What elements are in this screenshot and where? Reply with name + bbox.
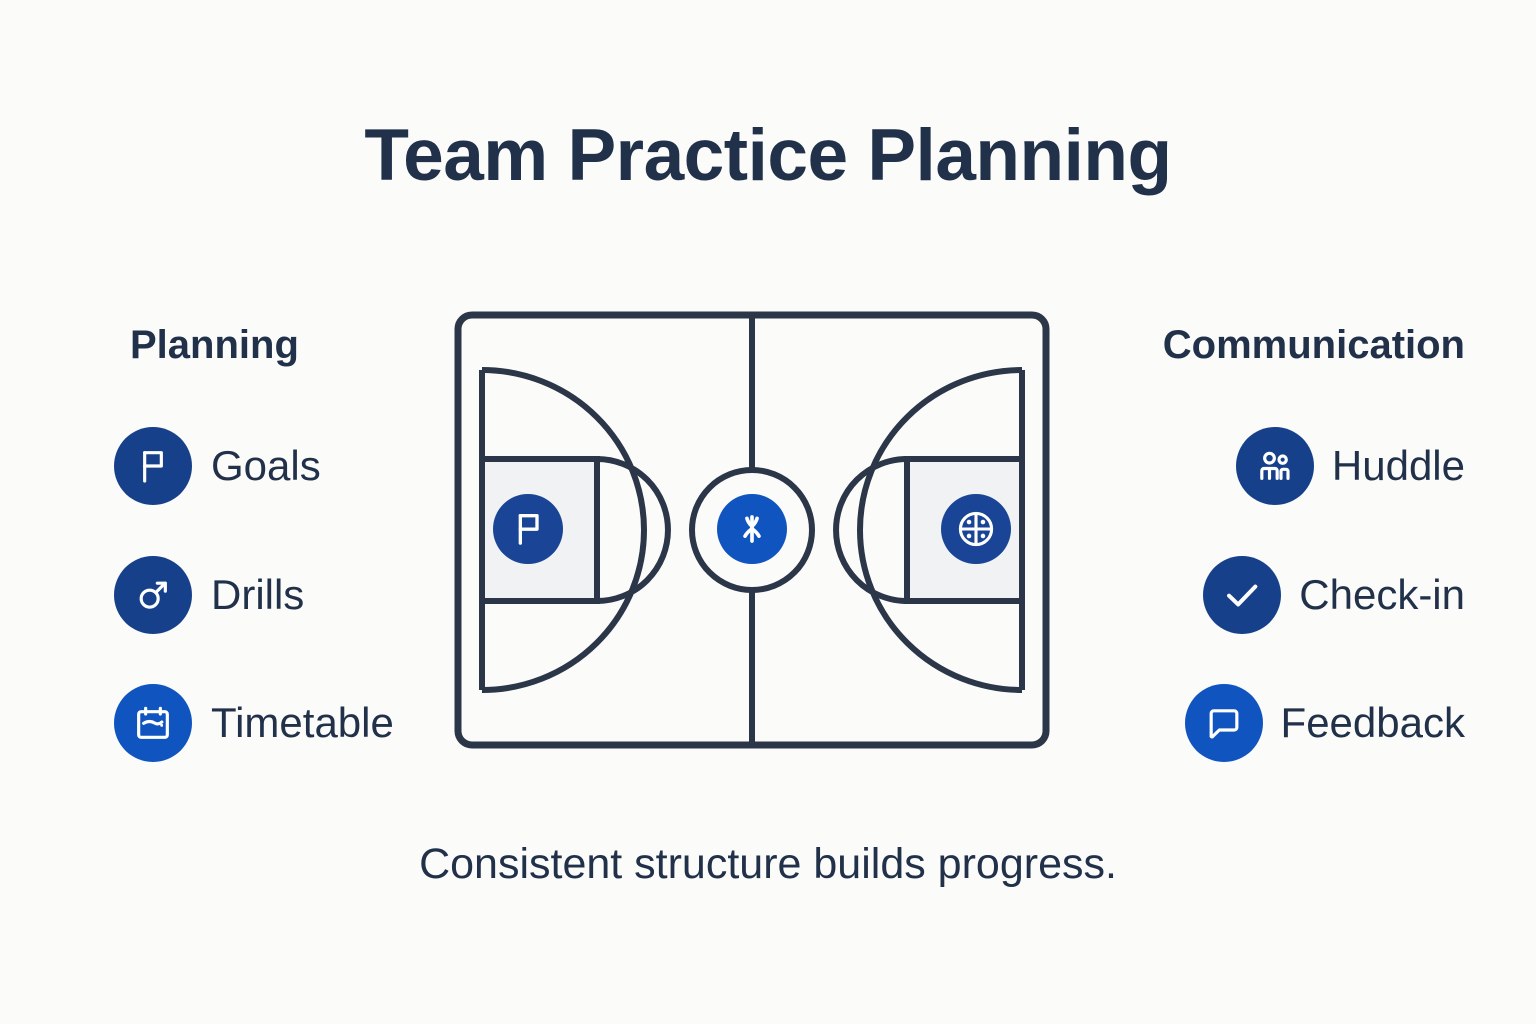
list-item-label-huddle: Huddle (1332, 445, 1465, 487)
infographic-canvas: Team Practice Planning Planning Goals (0, 0, 1536, 1024)
caption: Consistent structure builds progress. (0, 843, 1536, 886)
speech-bubble-icon (1204, 703, 1244, 743)
people-group-icon (1255, 446, 1295, 486)
column-heading-communication: Communication (1163, 325, 1465, 365)
list-item-timetable[interactable]: Timetable (114, 684, 394, 762)
badge-check-in (1203, 556, 1281, 634)
badge-goals (114, 427, 192, 505)
sparkle-stem-icon (733, 510, 771, 548)
list-item-goals[interactable]: Goals (114, 427, 321, 505)
list-item-label-check-in: Check-in (1299, 574, 1465, 616)
list-item-label-timetable: Timetable (211, 702, 394, 744)
page-title: Team Practice Planning (0, 119, 1536, 192)
crosshair-dots-icon (954, 507, 998, 551)
calendar-icon (133, 703, 173, 743)
list-item-feedback[interactable]: Feedback (1185, 684, 1465, 762)
court-badge-crosshair (941, 494, 1011, 564)
list-item-label-feedback: Feedback (1281, 702, 1465, 744)
list-item-label-goals: Goals (211, 445, 321, 487)
flag-icon (133, 446, 173, 486)
court-badge-center (717, 494, 787, 564)
list-item-huddle[interactable]: Huddle (1236, 427, 1465, 505)
court-badge-goals (493, 494, 563, 564)
list-item-check-in[interactable]: Check-in (1203, 556, 1465, 634)
check-icon (1221, 574, 1263, 616)
badge-huddle (1236, 427, 1314, 505)
badge-feedback (1185, 684, 1263, 762)
list-item-label-drills: Drills (211, 574, 304, 616)
mars-arrow-icon (133, 575, 173, 615)
badge-timetable (114, 684, 192, 762)
badge-drills (114, 556, 192, 634)
column-heading-planning: Planning (130, 325, 299, 365)
flag-icon (508, 509, 548, 549)
list-item-drills[interactable]: Drills (114, 556, 304, 634)
